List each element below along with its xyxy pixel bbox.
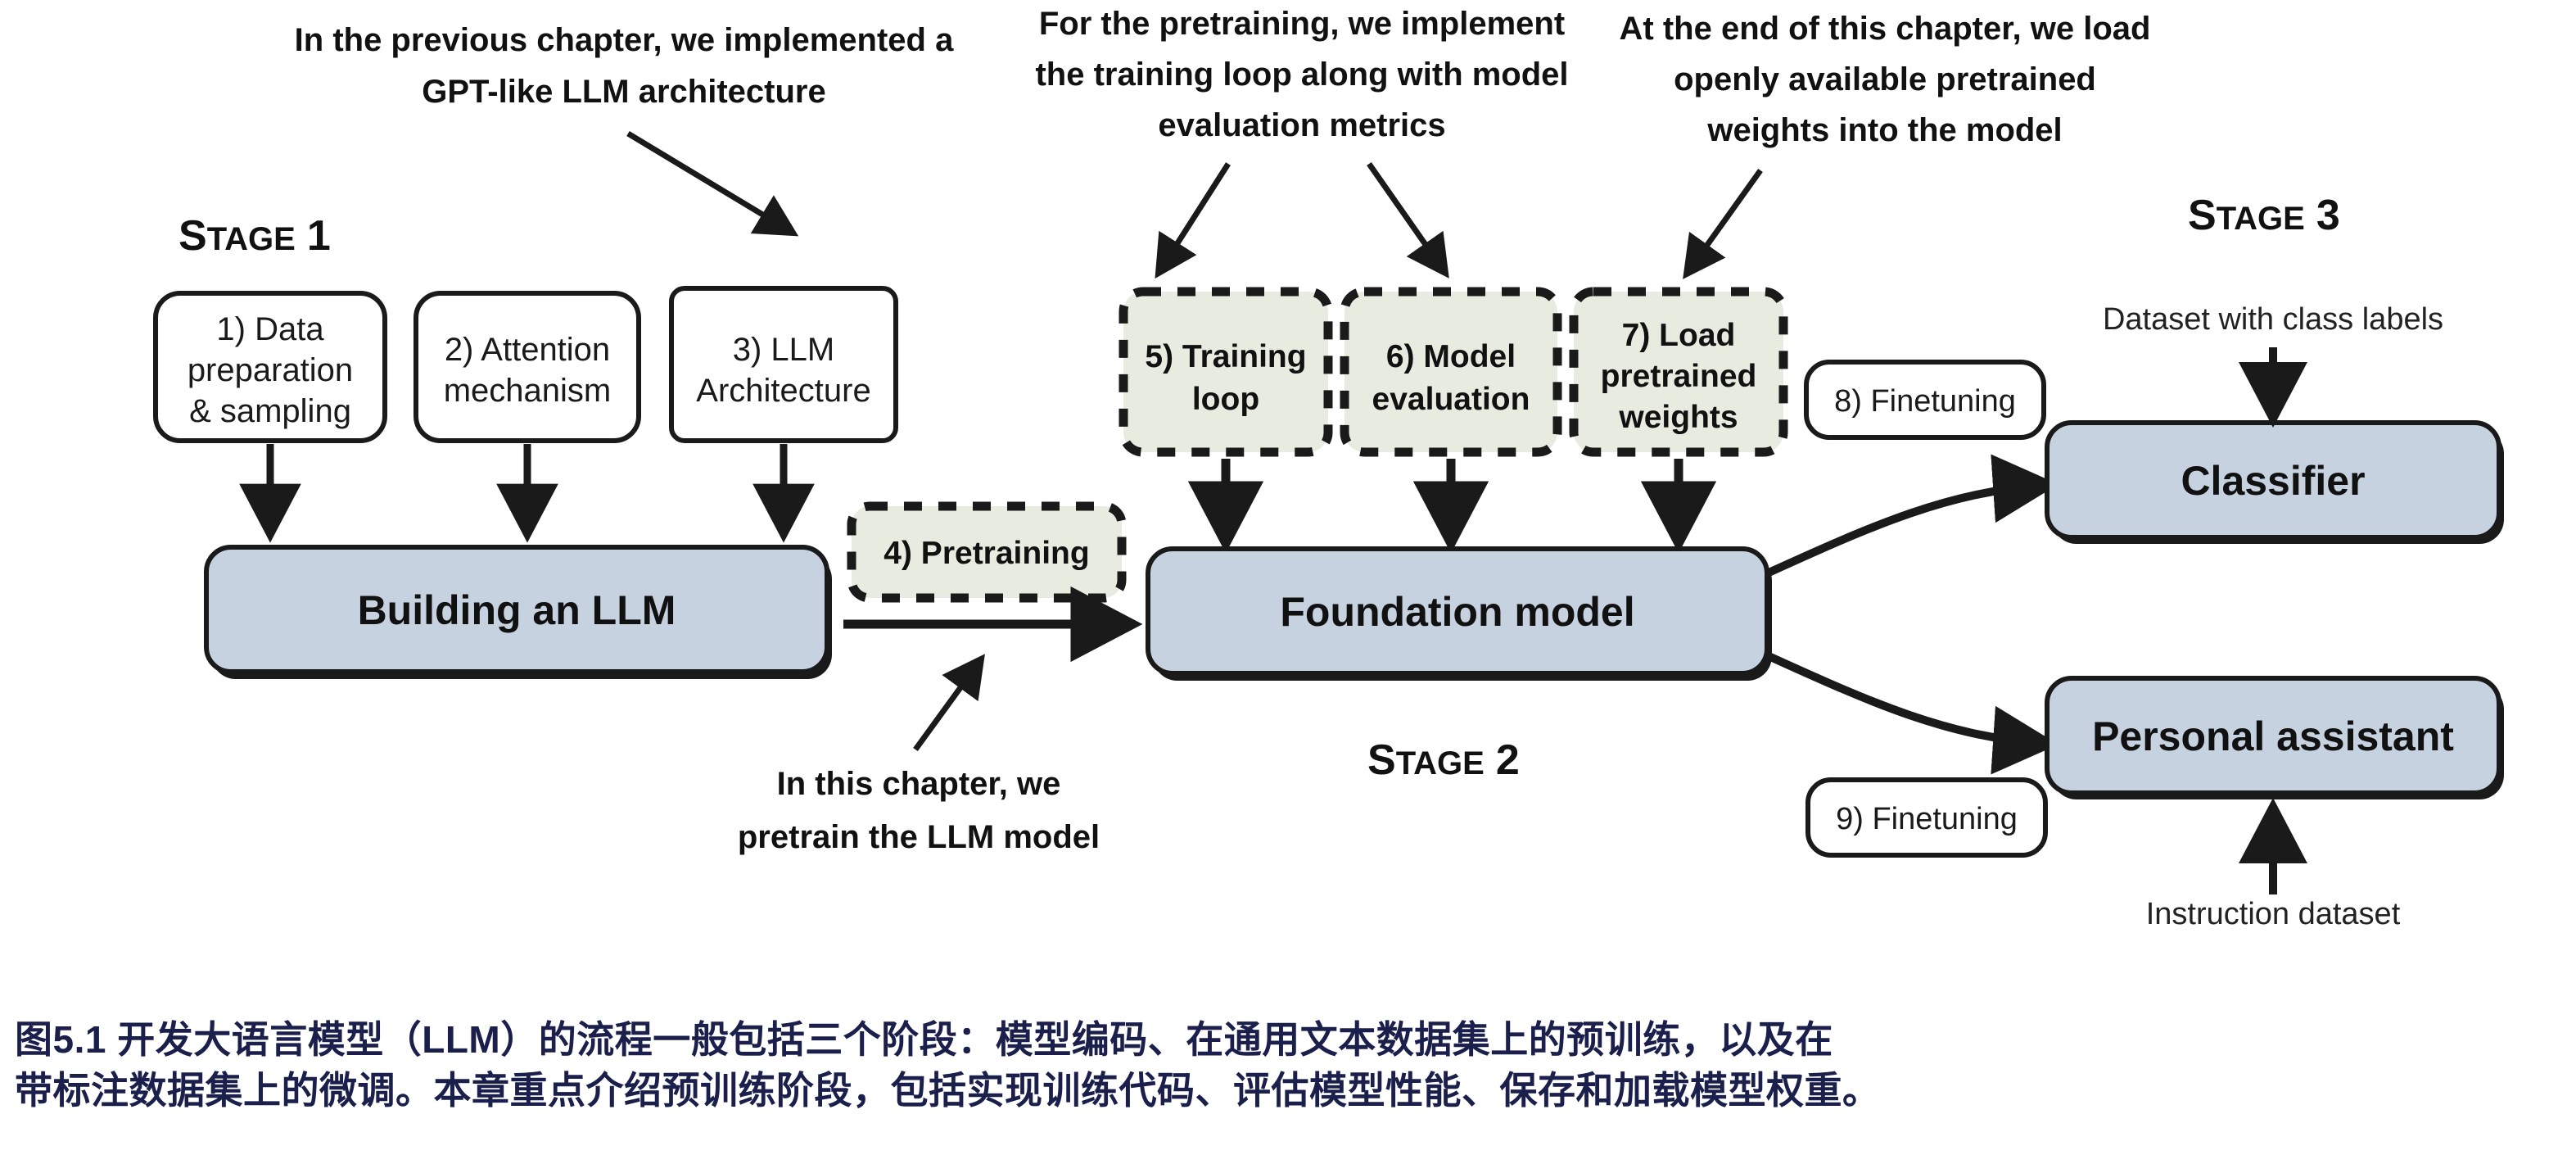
main-box-classifier[interactable]: Classifier <box>2047 423 2504 544</box>
pretraining-label: 4) Pretraining <box>884 536 1089 571</box>
main-box-label: Foundation model <box>1280 589 1634 635</box>
pretraining-box[interactable]: 4) Pretraining <box>852 506 1122 598</box>
annotation-arrow <box>1159 164 1228 273</box>
arrow-foundation-to-classifier <box>1767 485 2047 573</box>
annotation-this-chapter: In this chapter, we pretrain the LLM mod… <box>738 659 1100 855</box>
figure-root: In the previous chapter, we implemented … <box>0 0 2576 1173</box>
annotation-line: At the end of this chapter, we load <box>1620 11 2151 47</box>
stage1-box-data-preparation[interactable]: 1) Data preparation & sampling <box>156 293 385 441</box>
stage2-box-load-pretrained-weights[interactable]: 7) Load pretrained weights <box>1574 292 1783 452</box>
stage2-box-model-evaluation[interactable]: 6) Model evaluation <box>1344 292 1557 452</box>
dataset-label-class: Dataset with class labels <box>2103 302 2443 337</box>
stage-label-text: STAGE3 <box>2188 192 2340 239</box>
annotation-arrow <box>915 659 981 750</box>
box-line: weights <box>1618 400 1738 435</box>
annotation-arrow <box>1687 170 1760 274</box>
annotation-arrow <box>1369 164 1445 273</box>
annotation-line: In this chapter, we <box>777 766 1061 802</box>
dataset-label-instruction: Instruction dataset <box>2146 897 2401 931</box>
caption-line-1: 图5.1 开发大语言模型（LLM）的流程一般包括三个阶段：模型编码、在通用文本数… <box>15 1014 2569 1065</box>
main-box-building-an-llm[interactable]: Building an LLM <box>206 547 832 679</box>
annotation-pretraining: For the pretraining, we implement the tr… <box>1035 6 1568 273</box>
annotation-load-weights: At the end of this chapter, we load open… <box>1620 11 2151 274</box>
box-line: 1) Data <box>216 311 324 347</box>
box-line: mechanism <box>444 373 612 409</box>
annotation-line: the training loop along with model <box>1035 57 1568 93</box>
stage-1-label: STAGE1 <box>179 212 331 260</box>
main-box-foundation-model[interactable]: Foundation model <box>1148 549 1772 681</box>
annotation-line: pretrain the LLM model <box>738 819 1100 855</box>
finetuning-label: 8) Finetuning <box>1834 384 2016 419</box>
finetuning-label: 9) Finetuning <box>1836 802 2018 836</box>
box-line: 3) LLM <box>733 332 835 368</box>
figure-caption: 图5.1 开发大语言模型（LLM）的流程一般包括三个阶段：模型编码、在通用文本数… <box>15 1014 2569 1116</box>
box-line: 2) Attention <box>445 332 610 368</box>
annotation-previous-chapter: In the previous chapter, we implemented … <box>295 22 954 233</box>
finetuning-pill-8[interactable]: 8) Finetuning <box>1806 362 2044 437</box>
llm-pipeline-diagram: In the previous chapter, we implemented … <box>0 0 2576 1009</box>
box-line: pretrained <box>1601 359 1757 394</box>
stage-3-label: STAGE3 <box>2188 192 2340 239</box>
box-line: & sampling <box>189 393 351 429</box>
main-box-label: Personal assistant <box>2092 713 2454 759</box>
arrow-foundation-to-assistant <box>1767 655 2047 744</box>
box-line: 6) Model <box>1386 339 1516 374</box>
stage-2-label: STAGE2 <box>1367 736 1520 784</box>
annotation-arrow <box>628 134 793 233</box>
box-line: loop <box>1192 382 1259 417</box>
annotation-line: weights into the model <box>1706 112 2062 148</box>
box-line: evaluation <box>1372 382 1530 417</box>
main-box-personal-assistant[interactable]: Personal assistant <box>2047 678 2504 799</box>
stage1-box-llm-architecture[interactable]: 3) LLM Architecture <box>671 288 896 441</box>
stage2-box-training-loop[interactable]: 5) Training loop <box>1123 292 1328 452</box>
main-box-label: Building an LLM <box>358 587 676 633</box>
stage1-box-attention-mechanism[interactable]: 2) Attention mechanism <box>416 293 639 441</box>
caption-line-2: 带标注数据集上的微调。本章重点介绍预训练阶段，包括实现训练代码、评估模型性能、保… <box>15 1065 2569 1116</box>
annotation-line: In the previous chapter, we implemented … <box>295 22 954 58</box>
stage-label-text: STAGE1 <box>179 212 331 260</box>
finetuning-pill-9[interactable]: 9) Finetuning <box>1808 780 2045 855</box>
stage-label-text: STAGE2 <box>1367 736 1520 784</box>
annotation-line: GPT-like LLM architecture <box>422 74 825 110</box>
main-box-label: Classifier <box>2181 458 2365 504</box>
annotation-line: openly available pretrained <box>1674 61 2096 97</box>
annotation-line: For the pretraining, we implement <box>1039 6 1565 42</box>
annotation-line: evaluation metrics <box>1158 107 1445 143</box>
box-line: preparation <box>188 352 353 388</box>
box-line: 7) Load <box>1622 318 1736 353</box>
box-line: 5) Training <box>1145 339 1306 374</box>
box-line: Architecture <box>696 373 870 409</box>
